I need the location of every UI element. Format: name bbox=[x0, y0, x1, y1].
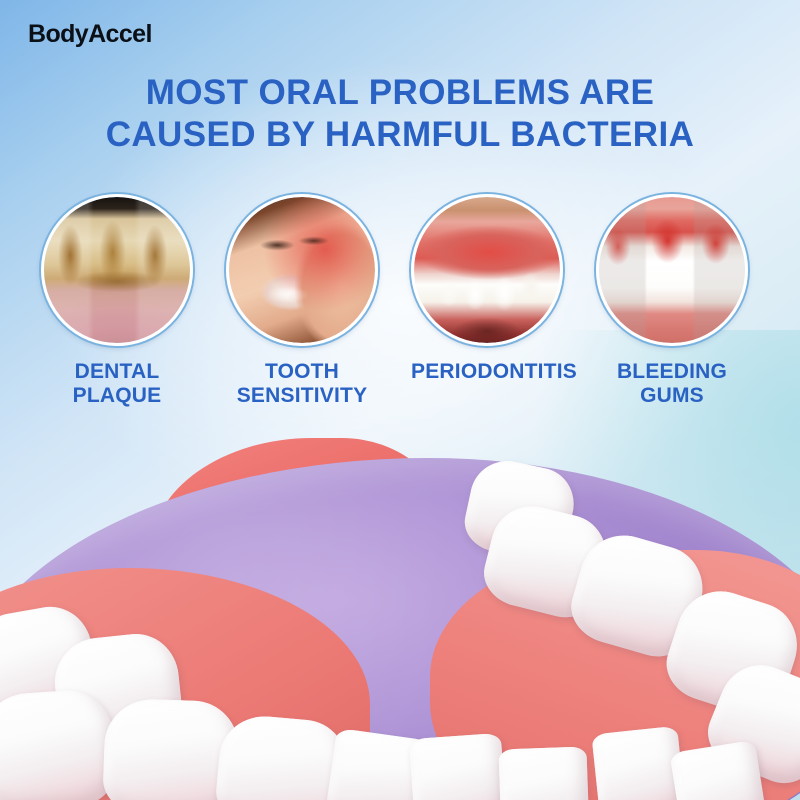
brand-logo[interactable]: BodyAccel bbox=[28, 20, 152, 49]
problem-image-circle-2[interactable] bbox=[226, 194, 378, 346]
dental-plaque-photo bbox=[44, 197, 190, 343]
tooth-incisor bbox=[498, 746, 589, 800]
headline-line-1: MOST ORAL PROBLEMS ARE bbox=[0, 72, 800, 114]
problem-image-circle-4[interactable] bbox=[596, 194, 748, 346]
problem-label-4-line-1: BLEEDING bbox=[617, 360, 727, 383]
infographic-poster: BodyAccel MOST ORAL PROBLEMS ARE CAUSED … bbox=[0, 0, 800, 800]
problem-image-circle-1[interactable] bbox=[41, 194, 193, 346]
periodontitis-photo bbox=[414, 197, 560, 343]
mouth-illustration bbox=[0, 400, 800, 800]
bleeding-gums-photo bbox=[599, 197, 745, 343]
problem-image-circle-3[interactable] bbox=[411, 194, 563, 346]
problem-circle-row: DENTAL PLAQUE TOOTH SENSITIVITY PERIODON… bbox=[0, 194, 800, 424]
page-title: MOST ORAL PROBLEMS ARE CAUSED BY HARMFUL… bbox=[0, 72, 800, 155]
problem-label-1-line-1: DENTAL bbox=[75, 360, 160, 383]
problem-item-periodontitis[interactable]: PERIODONTITIS bbox=[411, 194, 563, 384]
problem-item-tooth-sensitivity[interactable]: TOOTH SENSITIVITY bbox=[226, 194, 378, 407]
tooth-sensitivity-photo bbox=[229, 197, 375, 343]
problem-item-dental-plaque[interactable]: DENTAL PLAQUE bbox=[41, 194, 193, 407]
headline-line-2: CAUSED BY HARMFUL BACTERIA bbox=[0, 114, 800, 156]
problem-label-3: PERIODONTITIS bbox=[411, 360, 563, 384]
tooth-incisor bbox=[409, 733, 507, 800]
problem-label-2-line-1: TOOTH bbox=[265, 360, 339, 383]
problem-label-3-line-1: PERIODONTITIS bbox=[411, 360, 577, 383]
problem-item-bleeding-gums[interactable]: BLEEDING GUMS bbox=[596, 194, 748, 407]
tooth-molar bbox=[0, 688, 118, 800]
